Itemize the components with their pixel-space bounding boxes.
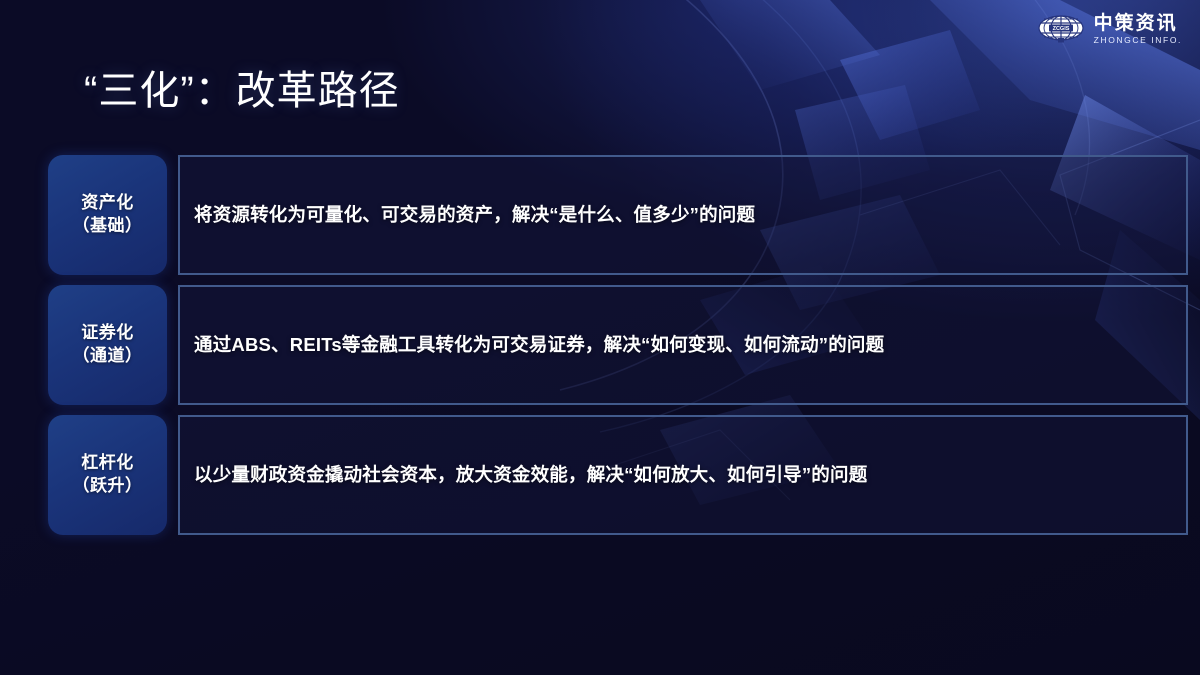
pathway-tag-securitization[interactable]: 证券化 （通道） (48, 285, 167, 405)
pathway-tag-assetization[interactable]: 资产化 （基础） (48, 155, 167, 275)
pathway-panel-securitization: 通过ABS、REITs等金融工具转化为可交易证券，解决“如何变现、如何流动”的问… (178, 285, 1188, 405)
tag-label-secondary: （通道） (73, 345, 143, 368)
tag-label-primary: 证券化 (81, 322, 134, 345)
brand-logo: ZCGIS 中策资讯 ZHONGCE INFO. (1038, 14, 1182, 45)
pathway-list: 资产化 （基础） 将资源转化为可量化、可交易的资产，解决“是什么、值多少”的问题… (48, 155, 1188, 535)
pathway-row: 资产化 （基础） 将资源转化为可量化、可交易的资产，解决“是什么、值多少”的问题 (48, 155, 1188, 275)
tag-label-secondary: （跃升） (73, 475, 143, 498)
panel-description: 将资源转化为可量化、可交易的资产，解决“是什么、值多少”的问题 (194, 202, 755, 228)
pathway-panel-assetization: 将资源转化为可量化、可交易的资产，解决“是什么、值多少”的问题 (178, 155, 1188, 275)
tag-label-secondary: （基础） (73, 215, 143, 238)
tag-label-primary: 杠杆化 (81, 452, 134, 475)
slide-title: “三化”：改革路径 (84, 58, 400, 116)
brand-wordmark: 中策资讯 ZHONGCE INFO. (1094, 14, 1182, 45)
pathway-panel-leverage: 以少量财政资金撬动社会资本，放大资金效能，解决“如何放大、如何引导”的问题 (178, 415, 1188, 535)
tag-label-primary: 资产化 (81, 192, 134, 215)
globe-logo-text: ZCGIS (1052, 26, 1069, 32)
brand-name-en: ZHONGCE INFO. (1094, 36, 1182, 45)
panel-description: 通过ABS、REITs等金融工具转化为可交易证券，解决“如何变现、如何流动”的问… (194, 332, 884, 358)
pathway-row: 证券化 （通道） 通过ABS、REITs等金融工具转化为可交易证券，解决“如何变… (48, 285, 1188, 405)
panel-description: 以少量财政资金撬动社会资本，放大资金效能，解决“如何放大、如何引导”的问题 (194, 462, 867, 488)
slide-canvas: ZCGIS 中策资讯 ZHONGCE INFO. “三化”：改革路径 资产化 （… (0, 0, 1200, 675)
pathway-row: 杠杆化 （跃升） 以少量财政资金撬动社会资本，放大资金效能，解决“如何放大、如何… (48, 415, 1188, 535)
brand-name-cn: 中策资讯 (1094, 14, 1182, 33)
pathway-tag-leverage[interactable]: 杠杆化 （跃升） (48, 415, 167, 535)
globe-icon: ZCGIS (1038, 14, 1084, 44)
